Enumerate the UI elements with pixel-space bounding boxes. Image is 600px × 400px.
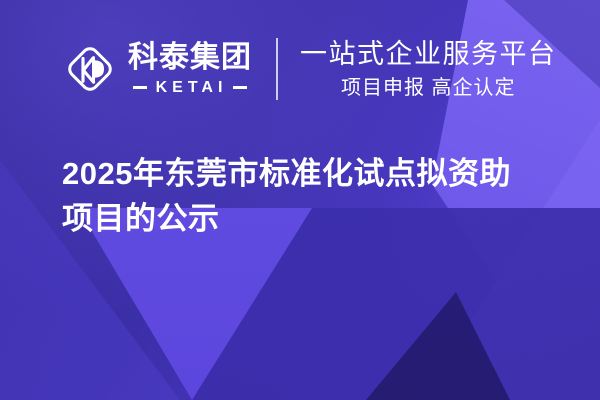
brand-logo: 科泰集团 KETAI bbox=[62, 41, 252, 97]
brand-name-en-row: KETAI bbox=[128, 79, 252, 97]
banner-content: 科泰集团 KETAI 一站式企业服务平台 项目申报 高企认定 2025年东莞市标… bbox=[0, 0, 600, 400]
banner-title: 2025年东莞市标准化试点拟资助项目的公示 bbox=[62, 152, 542, 242]
wordmark-dash-left-icon bbox=[133, 86, 147, 89]
wordmark-dash-right-icon bbox=[233, 86, 247, 89]
brand-name-en: KETAI bbox=[147, 79, 234, 97]
ketai-diamond-kd-monogram-icon bbox=[62, 41, 118, 97]
brand-wordmark: 科泰集团 KETAI bbox=[128, 42, 252, 96]
banner-header: 科泰集团 KETAI 一站式企业服务平台 项目申报 高企认定 bbox=[62, 38, 557, 101]
promo-banner: 科泰集团 KETAI 一站式企业服务平台 项目申报 高企认定 2025年东莞市标… bbox=[0, 0, 600, 400]
brand-tagline: 一站式企业服务平台 项目申报 高企认定 bbox=[300, 38, 557, 101]
tagline-primary: 一站式企业服务平台 bbox=[300, 38, 557, 72]
brand-name-cn: 科泰集团 bbox=[128, 42, 252, 74]
tagline-secondary: 项目申报 高企认定 bbox=[300, 75, 557, 101]
header-divider bbox=[276, 38, 278, 100]
